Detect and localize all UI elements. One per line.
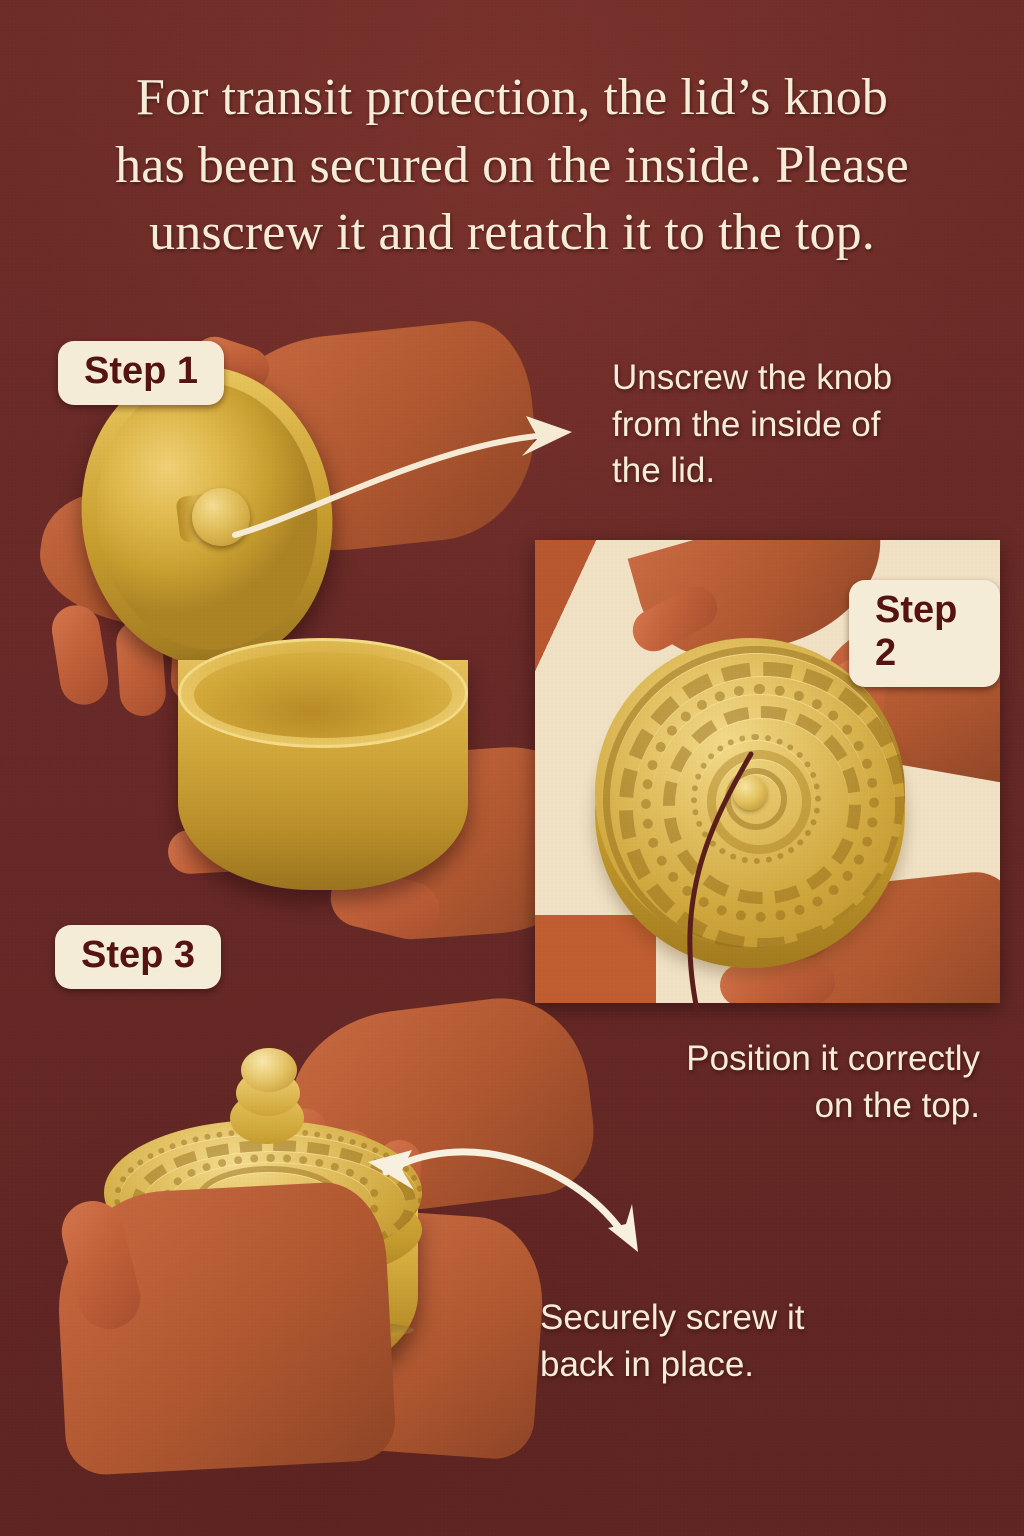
caption-line: Position it correctly (560, 1036, 980, 1083)
badge-step-1: Step 1 (58, 341, 224, 405)
finger-icon (48, 602, 111, 708)
caption-step-1: Unscrew the knob from the inside of the … (612, 355, 972, 495)
caption-line: back in place. (540, 1342, 940, 1389)
headline-line-3: unscrew it and retatch it to the top. (60, 199, 964, 267)
bowl-cavity (194, 652, 452, 738)
illustration-bowl-base (150, 630, 600, 970)
caption-line: Securely screw it (540, 1295, 940, 1342)
caption-step-3: Securely screw it back in place. (540, 1295, 940, 1388)
badge-step-3: Step 3 (55, 925, 221, 989)
knob (192, 488, 250, 546)
headline-line-1: For transit protection, the lid’s knob (60, 64, 964, 132)
caption-line: the lid. (612, 448, 972, 495)
illustration-step-3 (60, 1000, 580, 1470)
instruction-poster: For transit protection, the lid’s knob h… (0, 0, 1024, 1536)
caption-step-2: Position it correctly on the top. (560, 1036, 980, 1129)
page-title: For transit protection, the lid’s knob h… (60, 64, 964, 267)
caption-line: on the top. (560, 1083, 980, 1130)
badge-step-2: Step 2 (849, 580, 1000, 687)
illustration-step-2-panel: Step 2 (535, 540, 1000, 1003)
caption-line: Unscrew the knob (612, 355, 972, 402)
headline-line-2: has been secured on the inside. Please (60, 132, 964, 200)
knob (241, 1048, 297, 1092)
caption-line: from the inside of (612, 402, 972, 449)
knob (733, 776, 767, 810)
